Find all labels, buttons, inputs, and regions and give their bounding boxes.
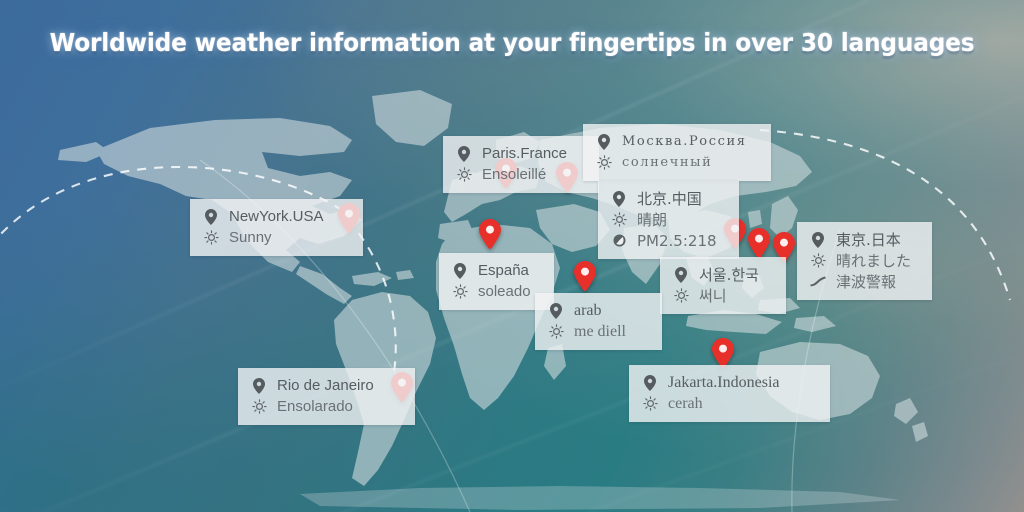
- map-pin-marker[interactable]: [712, 338, 734, 368]
- weather-condition-label: cerah: [668, 395, 703, 413]
- page-title: Worldwide weather information at your fi…: [36, 28, 988, 57]
- weather-condition: Ensoleillé: [454, 164, 585, 185]
- map-pin-icon: [201, 209, 221, 225]
- weather-condition: 써니: [671, 285, 772, 306]
- weather-condition-label: 晴れました: [836, 252, 911, 270]
- city-name: arab: [546, 300, 648, 321]
- city-name: 北京.中国: [609, 188, 725, 209]
- weather-condition-label: me diell: [574, 323, 626, 341]
- sun-icon: [594, 155, 614, 171]
- weather-card-moscow[interactable]: Москва.Россиясолнечный: [583, 124, 771, 181]
- weather-map-banner: Worldwide weather information at your fi…: [0, 0, 1024, 512]
- map-pin-icon: [594, 134, 614, 150]
- weather-card-tokyo[interactable]: 東京.日本晴れました津波警報: [797, 222, 932, 300]
- wave-icon: [808, 274, 828, 290]
- weather-condition-label: солнечный: [622, 154, 712, 172]
- sun-icon: [201, 230, 221, 246]
- weather-condition: 晴れました: [808, 250, 918, 271]
- map-pin-marker[interactable]: [748, 228, 770, 258]
- weather-card-arab[interactable]: arabme diell: [535, 293, 662, 350]
- map-pin-icon: [640, 375, 660, 391]
- map-pin-marker[interactable]: [479, 219, 501, 249]
- sun-icon: [450, 284, 470, 300]
- weather-condition: 晴朗: [609, 209, 725, 230]
- city-name: Москва.Россия: [594, 131, 757, 152]
- city-name-label: arab: [574, 302, 602, 320]
- city-name: 서울.한국: [671, 264, 772, 285]
- city-name-label: NewYork.USA: [229, 208, 323, 226]
- weather-condition-label: 晴朗: [637, 211, 667, 229]
- map-pin-icon: [450, 263, 470, 279]
- map-pin-icon: [546, 303, 566, 319]
- weather-condition-label: 써니: [699, 287, 727, 305]
- city-name: España: [450, 260, 540, 281]
- weather-extra: 津波警報: [808, 271, 918, 292]
- city-name: Jakarta.Indonesia: [640, 372, 816, 393]
- haze-icon: [609, 233, 629, 249]
- city-name: Rio de Janeiro: [249, 375, 401, 396]
- weather-extra: PM2.5:218: [609, 230, 725, 251]
- city-name: NewYork.USA: [201, 206, 349, 227]
- weather-condition: me diell: [546, 321, 648, 342]
- city-name-label: España: [478, 262, 529, 280]
- weather-condition-label: Sunny: [229, 229, 272, 247]
- weather-condition: Sunny: [201, 227, 349, 248]
- weather-condition: солнечный: [594, 152, 757, 173]
- sun-icon: [808, 253, 828, 269]
- city-name-label: Paris.France: [482, 145, 567, 163]
- map-pin-icon: [249, 378, 269, 394]
- city-name-label: 北京.中国: [637, 190, 702, 208]
- weather-condition-label: Ensoleillé: [482, 166, 546, 184]
- map-pin-marker[interactable]: [574, 261, 596, 291]
- weather-extra-label: 津波警報: [836, 273, 896, 291]
- city-name-label: Москва.Россия: [622, 133, 747, 151]
- sun-icon: [249, 399, 269, 415]
- weather-extra-label: PM2.5:218: [637, 232, 717, 250]
- sun-icon: [454, 167, 474, 183]
- city-name: 東京.日本: [808, 229, 918, 250]
- weather-condition-label: Ensolarado: [277, 398, 353, 416]
- city-name-label: Jakarta.Indonesia: [668, 374, 780, 392]
- city-name-label: 東京.日本: [836, 231, 901, 249]
- weather-card-seoul[interactable]: 서울.한국써니: [660, 257, 786, 314]
- sun-icon: [640, 396, 660, 412]
- weather-condition: soleado: [450, 281, 540, 302]
- weather-condition: Ensolarado: [249, 396, 401, 417]
- city-name-label: 서울.한국: [699, 266, 759, 284]
- weather-condition-label: soleado: [478, 283, 531, 301]
- map-pin-icon: [671, 267, 691, 283]
- map-pin-icon: [808, 232, 828, 248]
- sun-icon: [609, 212, 629, 228]
- weather-card-jakarta[interactable]: Jakarta.Indonesiacerah: [629, 365, 830, 422]
- weather-card-beijing[interactable]: 北京.中国晴朗PM2.5:218: [598, 181, 739, 259]
- weather-condition: cerah: [640, 393, 816, 414]
- sun-icon: [546, 324, 566, 340]
- map-pin-icon: [454, 146, 474, 162]
- weather-card-newyork[interactable]: NewYork.USASunny: [190, 199, 363, 256]
- city-name: Paris.France: [454, 143, 585, 164]
- city-name-label: Rio de Janeiro: [277, 377, 374, 395]
- sun-icon: [671, 288, 691, 304]
- map-pin-icon: [609, 191, 629, 207]
- weather-card-paris[interactable]: Paris.FranceEnsoleillé: [443, 136, 599, 193]
- weather-card-rio[interactable]: Rio de JaneiroEnsolarado: [238, 368, 415, 425]
